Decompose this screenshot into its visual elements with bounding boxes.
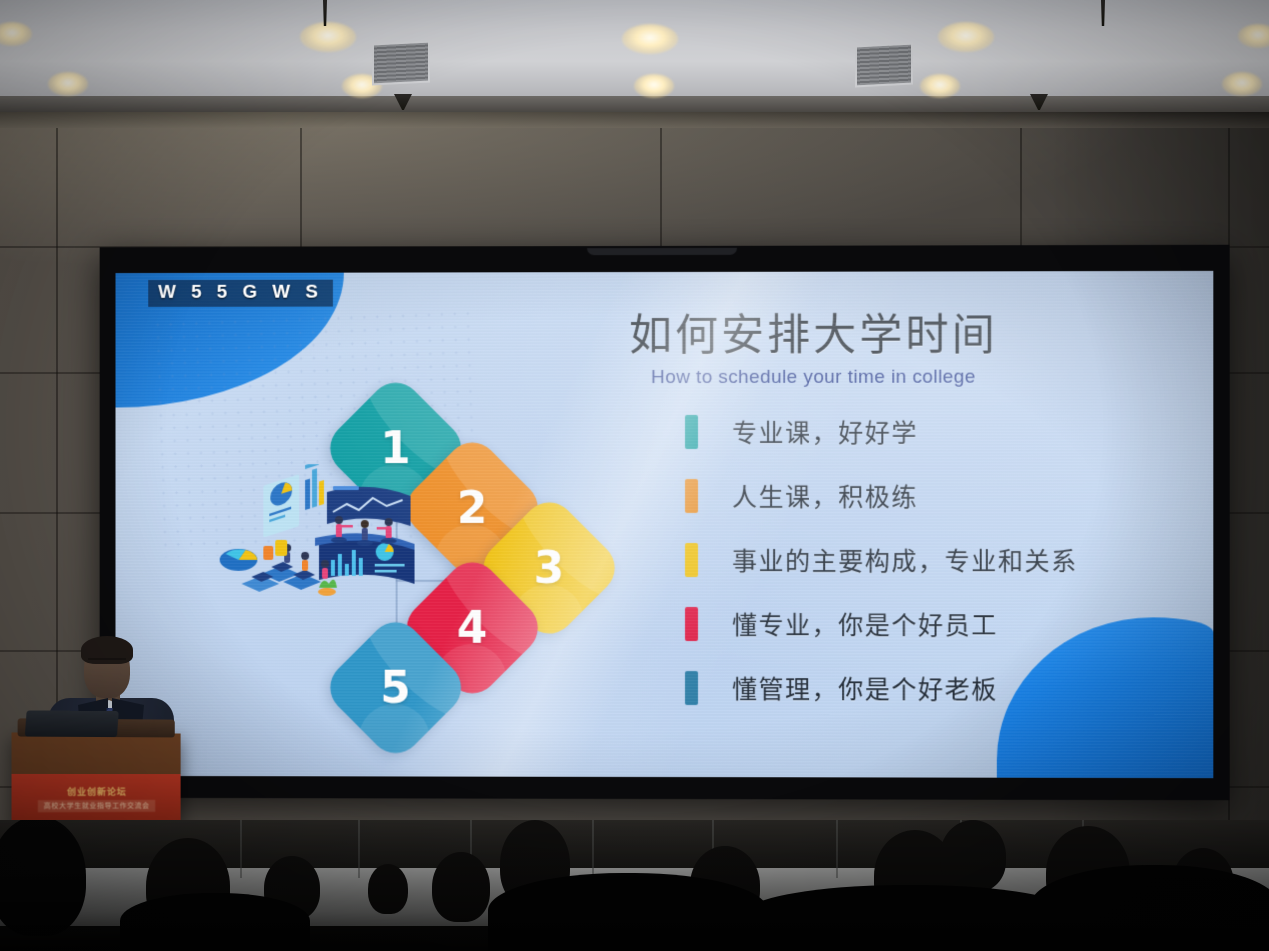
bullet-label: 懂管理，你是个好老板 xyxy=(732,670,998,706)
audience-shadow-overlay xyxy=(0,820,1269,951)
podium-banner-subtitle: 高校大学生就业指导工作交流会 xyxy=(38,799,156,811)
diamond-number: 2 xyxy=(457,483,488,534)
bullet-marker xyxy=(685,479,698,513)
slide-bullet-list: 专业课，好好学 人生课，积极练 事业的主要构成，专业和关系 懂专业，你是个好员工… xyxy=(685,400,1127,721)
bullet-marker xyxy=(685,543,698,577)
slide-title: 如何安排大学时间 xyxy=(443,313,1185,360)
ceiling-vent xyxy=(855,42,913,87)
bullet-item: 人生课，积极练 xyxy=(685,464,1127,528)
audience-area xyxy=(0,820,1269,951)
wall-panel-seam xyxy=(1020,128,1022,248)
podium-banner-title: 创业创新论坛 xyxy=(67,784,127,797)
bullet-item: 懂专业，你是个好员工 xyxy=(685,592,1127,656)
wall-panel-seam xyxy=(660,128,662,246)
podium-banner: 创业创新论坛 高校大学生就业指导工作交流会 xyxy=(12,774,181,823)
bullet-label: 人生课，积极练 xyxy=(732,478,918,514)
speaker-glasses xyxy=(88,658,126,666)
bullet-item: 专业课，好好学 xyxy=(685,400,1127,464)
bullet-label: 事业的主要构成，专业和关系 xyxy=(732,542,1078,578)
ceiling-downlight xyxy=(300,22,356,52)
diamond-number: 4 xyxy=(457,602,488,653)
wall-panel-seam xyxy=(300,128,302,248)
diamond-number: 5 xyxy=(380,662,410,713)
bullet-item: 事业的主要构成，专业和关系 xyxy=(685,528,1127,592)
bullet-marker xyxy=(685,607,698,641)
bullet-item: 懂管理，你是个好老板 xyxy=(685,656,1127,721)
slide-title-block: 如何安排大学时间 How to schedule your time in co… xyxy=(443,313,1185,389)
bezel-notch xyxy=(587,248,737,255)
ceiling-downlight xyxy=(938,22,994,52)
wall-panel-seam xyxy=(0,512,100,514)
bullet-label: 懂专业，你是个好员工 xyxy=(732,606,998,642)
wall-panel-seam xyxy=(0,372,100,374)
led-display-bezel: 如何安排大学时间 How to schedule your time in co… xyxy=(100,245,1230,801)
ceiling-vent xyxy=(372,40,430,85)
podium-lectern: 创业创新论坛 高校大学生就业指导工作交流会 xyxy=(12,732,181,828)
screen-watermark: W 5 5 G W S xyxy=(148,280,333,307)
presentation-screen: 如何安排大学时间 How to schedule your time in co… xyxy=(116,271,1214,778)
podium-laptop xyxy=(25,710,119,737)
ceiling-downlight xyxy=(48,72,88,96)
ceiling-downlight xyxy=(1222,72,1262,96)
ceiling-downlight xyxy=(634,74,674,98)
isometric-analytics-illustration xyxy=(220,464,429,599)
bullet-label: 专业课，好好学 xyxy=(732,414,918,450)
diamond-number: 3 xyxy=(534,542,565,593)
bullet-marker xyxy=(685,415,698,449)
ceiling-downlight xyxy=(622,24,678,54)
lecture-hall-photo: 如何安排大学时间 How to schedule your time in co… xyxy=(0,0,1269,951)
bullet-marker xyxy=(685,671,698,705)
ceiling-downlight xyxy=(920,74,960,98)
